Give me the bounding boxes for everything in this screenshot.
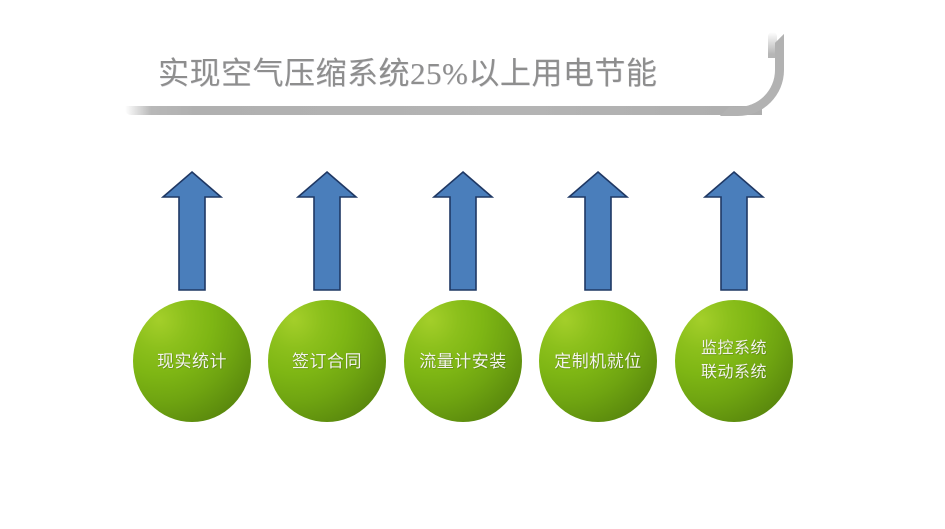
step-label: 流量计安装 [419,350,507,373]
step-label: 签订合同 [292,350,362,373]
step-label: 定制机就位 [554,350,642,373]
step-label: 监控系统 联动系统 [701,337,767,385]
up-arrow-icon [296,170,358,292]
banner-curve-tip [768,32,777,58]
up-arrow-icon [703,170,765,292]
up-arrow-icon [432,170,494,292]
step-label: 现实统计 [157,350,227,373]
step-circle[interactable]: 监控系统 联动系统 [675,300,793,422]
title-banner: 实现空气压缩系统25%以上用电节能 [120,40,800,130]
slide-canvas: 实现空气压缩系统25%以上用电节能 现实统计 签订合同 流量计安 [0,0,945,529]
up-arrow-icon [161,170,223,292]
step-circle[interactable]: 流量计安装 [404,300,522,422]
step-circle[interactable]: 签订合同 [268,300,386,422]
banner-underline [125,106,761,115]
page-title: 实现空气压缩系统25%以上用电节能 [158,50,758,98]
up-arrow-icon [567,170,629,292]
step-circle[interactable]: 定制机就位 [539,300,657,422]
step-circle[interactable]: 现实统计 [133,300,251,422]
